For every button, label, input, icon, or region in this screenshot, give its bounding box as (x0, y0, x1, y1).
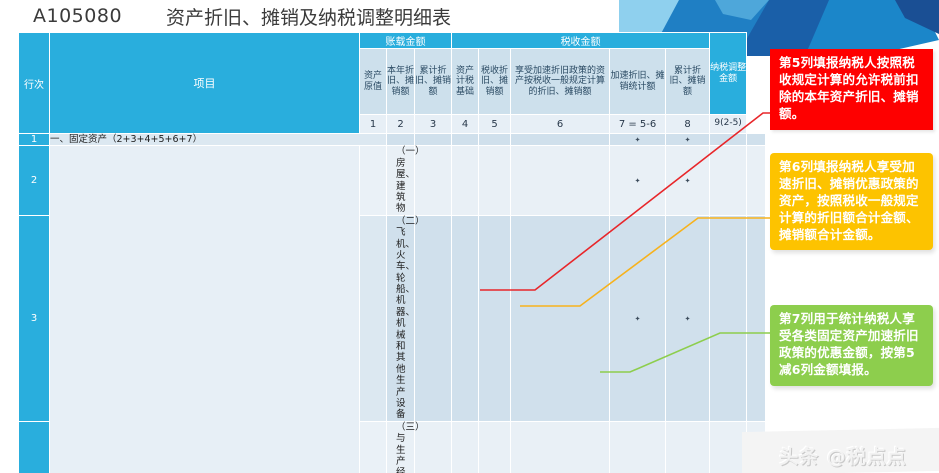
th-c8: 累计折旧、摊销额 (666, 49, 710, 115)
row-item-label: （二）飞机、火车、轮船、机器、机械和其他生产设备 (360, 215, 387, 421)
star-marker: ✦ (685, 316, 691, 323)
star-marker: ✦ (685, 137, 691, 144)
data-cell-c5[interactable] (511, 215, 610, 421)
form-code: A105080 (33, 5, 122, 27)
data-cell-c9[interactable] (747, 134, 766, 146)
data-cell-c7[interactable]: ✦ (666, 134, 710, 146)
data-cell-c7[interactable]: ✦ (666, 215, 710, 421)
row-number: 2 (19, 146, 50, 215)
th-n7: 7 = 5-6 (610, 115, 666, 134)
star-marker: ✦ (635, 178, 641, 185)
row-number: 4 (19, 421, 50, 473)
watermark: 头条 @税点点 (748, 440, 938, 470)
data-cell-c5[interactable] (511, 134, 610, 146)
th-c6: 享受加速折旧政策的资产按税收一般规定计算的折旧、摊销额 (511, 49, 610, 115)
data-cell-c3[interactable] (452, 134, 479, 146)
form-title: 资产折旧、摊销及纳税调整明细表 (166, 3, 451, 30)
th-n9: 9(2-5) (710, 115, 747, 134)
th-c7: 加速折旧、摊销统计额 (610, 49, 666, 115)
th-n6: 6 (511, 115, 610, 134)
th-group-tax: 税收金额 (452, 33, 710, 49)
page-title: A105080 资产折旧、摊销及纳税调整明细表 (0, 0, 760, 32)
th-n2: 2 (387, 115, 415, 134)
table-row[interactable]: 1一、固定资产（2+3+4+5+6+7）✦✦ (19, 134, 766, 146)
th-c3: 累计折旧、摊销额 (415, 49, 452, 115)
th-n8: 8 (666, 115, 710, 134)
data-cell-c8[interactable] (710, 146, 747, 215)
table-header-group-row: 行次 项目 账载金额 税收金额 纳税调整金额 (19, 33, 766, 49)
data-cell-c5[interactable] (511, 421, 610, 473)
callout-column6: 第6列填报纳税人享受加速折旧、摊销优惠政策的资产，按照税收一般规定计算的折旧额合… (770, 153, 933, 250)
data-cell-c6[interactable]: ✦ (610, 146, 666, 215)
data-cell-c3[interactable] (452, 421, 479, 473)
data-cell-c3[interactable] (452, 215, 479, 421)
row-item-label: （三）与生产经营活动有关的器具、工具、家具等 (360, 421, 387, 473)
th-c2: 本年折旧、摊销额 (387, 49, 415, 115)
data-cell-c4[interactable] (479, 134, 511, 146)
row-number: 1 (19, 134, 50, 146)
data-cell-c8[interactable] (710, 134, 747, 146)
th-n5: 5 (479, 115, 511, 134)
row-item-label: 一、固定资产（2+3+4+5+6+7） (50, 134, 387, 146)
data-cell-c7[interactable]: ✦ (666, 421, 710, 473)
star-marker: ✦ (635, 137, 641, 144)
data-cell-c4[interactable] (479, 215, 511, 421)
row-item-label: （一）房屋、建筑物 (360, 146, 387, 215)
data-cell-c4[interactable] (479, 421, 511, 473)
row-number: 3 (19, 215, 50, 421)
th-c1: 资产原值 (360, 49, 387, 115)
data-cell-c9[interactable] (747, 146, 766, 215)
star-marker: ✦ (685, 178, 691, 185)
data-cell-c1[interactable] (387, 134, 415, 146)
data-cell-c2[interactable] (415, 134, 452, 146)
th-n1: 1 (360, 115, 387, 134)
data-cell-c7[interactable]: ✦ (666, 146, 710, 215)
data-cell-c9[interactable] (747, 215, 766, 421)
callout-column7: 第7列用于统计纳税人享受各类固定资产加速折旧政策的优惠金额，按第5减6列金额填报… (770, 305, 933, 386)
data-cell-c2[interactable] (415, 215, 452, 421)
group-label-fixed-assets: 所有固定资产 (50, 146, 360, 473)
data-cell-c6[interactable]: ✦ (610, 421, 666, 473)
th-n3: 3 (415, 115, 452, 134)
table-body: 1一、固定资产（2+3+4+5+6+7）✦✦2所有固定资产（一）房屋、建筑物✦✦… (19, 134, 766, 473)
th-item: 项目 (50, 33, 360, 134)
data-cell-c8[interactable] (710, 215, 747, 421)
data-cell-c4[interactable] (479, 146, 511, 215)
depreciation-table: 行次 项目 账载金额 税收金额 纳税调整金额 资产原值 本年折旧、摊销额 累计折… (18, 32, 766, 473)
th-c5: 税收折旧、摊销额 (479, 49, 511, 115)
data-cell-c5[interactable] (511, 146, 610, 215)
th-rownum: 行次 (19, 33, 50, 134)
star-marker: ✦ (635, 316, 641, 323)
th-group-book: 账载金额 (360, 33, 452, 49)
data-cell-c6[interactable]: ✦ (610, 134, 666, 146)
data-cell-c6[interactable]: ✦ (610, 215, 666, 421)
th-n4: 4 (452, 115, 479, 134)
data-cell-c3[interactable] (452, 146, 479, 215)
th-adjust-amount: 纳税调整金额 (710, 33, 747, 115)
th-c4: 资产计税基础 (452, 49, 479, 115)
table-row[interactable]: 2所有固定资产（一）房屋、建筑物✦✦ (19, 146, 766, 215)
callout-column5: 第5列填报纳税人按照税收规定计算的允许税前扣除的本年资产折旧、摊销额。 (770, 49, 933, 130)
